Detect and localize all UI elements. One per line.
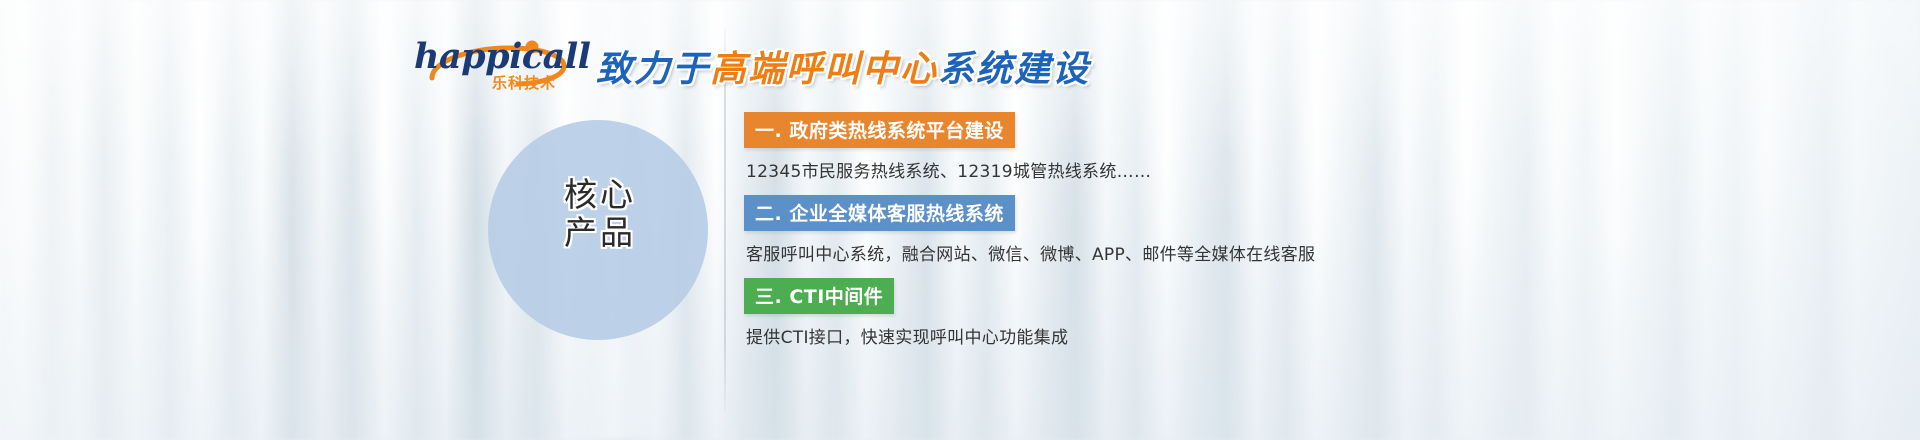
product-title-enterprise[interactable]: 二. 企业全媒体客服热线系统 — [744, 195, 1015, 231]
company-logo[interactable]: happicall 乐科技术 — [414, 34, 584, 92]
product-desc-enterprise: 客服呼叫中心系统，融合网站、微信、微博、APP、邮件等全媒体在线客服 — [744, 240, 1444, 265]
logo-chinese-name: 乐科技术 — [492, 72, 556, 93]
product-desc-cti: 提供CTI接口，快速实现呼叫中心功能集成 — [744, 323, 1444, 348]
product-title-cti[interactable]: 三. CTI中间件 — [744, 278, 894, 314]
headline-segment-1: 致力于 — [596, 49, 710, 90]
product-desc-government: 12345市民服务热线系统、12319城管热线系统…… — [744, 157, 1444, 182]
headline-segment-3: 系统建设 — [938, 49, 1090, 90]
product-title-government[interactable]: 一. 政府类热线系统平台建设 — [744, 112, 1015, 148]
core-products-label-line2: 产品 — [500, 214, 700, 252]
product-item: 一. 政府类热线系统平台建设 12345市民服务热线系统、12319城管热线系统… — [744, 112, 1444, 182]
logo-wordmark: happicall — [414, 36, 584, 77]
product-list: 一. 政府类热线系统平台建设 12345市民服务热线系统、12319城管热线系统… — [744, 112, 1444, 348]
core-products-label-line1: 核心 — [500, 176, 700, 214]
headline-segment-2: 高端呼叫中心 — [710, 49, 938, 90]
headline: 致力于高端呼叫中心系统建设 — [596, 40, 1090, 92]
core-products-label: 核心 产品 — [500, 176, 700, 252]
product-item: 二. 企业全媒体客服热线系统 客服呼叫中心系统，融合网站、微信、微博、APP、邮… — [744, 195, 1444, 265]
product-item: 三. CTI中间件 提供CTI接口，快速实现呼叫中心功能集成 — [744, 278, 1444, 348]
promo-banner: 核心 产品 happicall 乐科技术 致力于高端呼叫中心系统建设 一. 政府… — [0, 0, 1920, 440]
